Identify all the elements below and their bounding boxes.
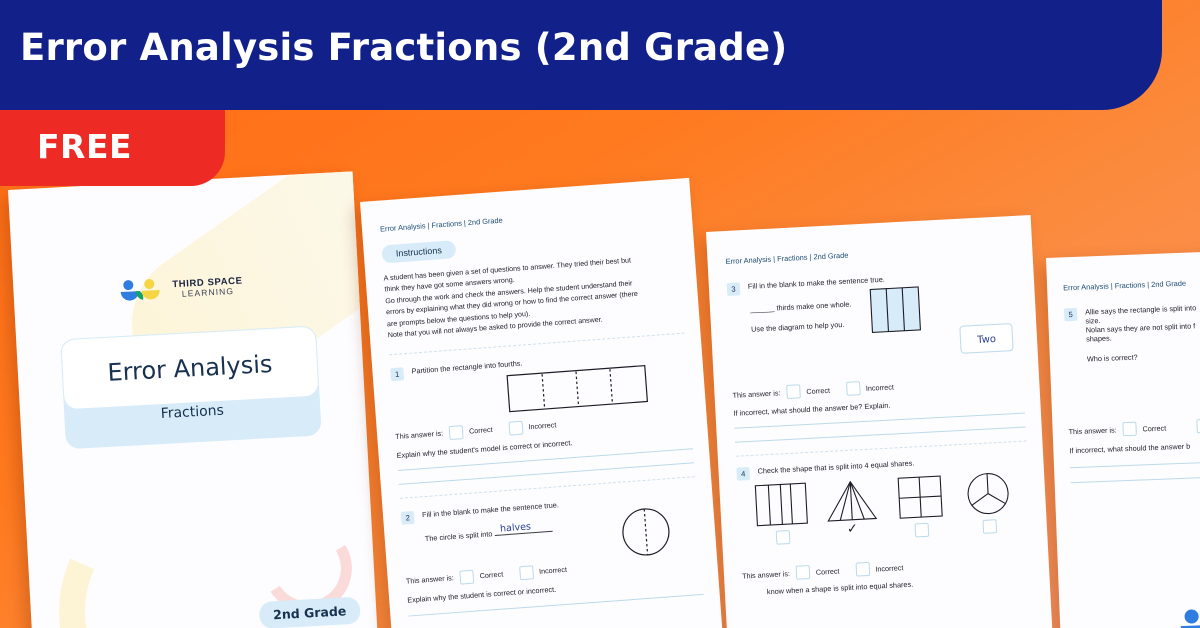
- worksheet-questions-3-4-page[interactable]: Error Analysis | Fractions | 2nd Grade 3…: [706, 215, 1054, 628]
- brand-line-2: LEARNING: [173, 286, 244, 299]
- checkbox-correct[interactable]: [796, 565, 811, 580]
- q5-question: Who is correct?: [1087, 350, 1198, 363]
- question-number: 5: [1064, 308, 1077, 321]
- checkbox-incorrect[interactable]: [519, 565, 534, 580]
- poster-canvas: THIRD SPACE LEARNING Error Analysis Frac…: [0, 0, 1200, 628]
- answer-label: This answer is:: [406, 574, 454, 586]
- square-quarters-icon: [893, 475, 947, 520]
- free-badge-label: FREE: [37, 127, 132, 166]
- cover-title-card-top: Error Analysis: [60, 326, 319, 411]
- option-correct-label: Correct: [806, 385, 830, 395]
- question-prompt: Check the shape that is split into 4 equ…: [757, 458, 914, 475]
- question-number: 1: [390, 367, 404, 381]
- third-space-learning-logo: THIRD SPACE LEARNING: [119, 273, 243, 304]
- question-number: 3: [727, 282, 741, 296]
- followup-prompt-q5: If incorrect, what should the answer b: [1069, 436, 1200, 456]
- worksheet-header-breadcrumb: Error Analysis | Fractions | 2nd Grade: [725, 242, 1016, 266]
- question-5: 5 Allie says the rectangle is split into…: [1064, 298, 1200, 364]
- answer-label: This answer is:: [732, 388, 780, 399]
- cover-grade-badge: 2nd Grade: [258, 597, 360, 628]
- writing-line[interactable]: [1070, 457, 1200, 469]
- question-number: 2: [401, 511, 415, 525]
- checkbox-correct[interactable]: [1122, 422, 1137, 437]
- checkbox-correct[interactable]: [786, 384, 801, 399]
- checkbox-incorrect[interactable]: [855, 562, 870, 577]
- q4-option-square-quarters[interactable]: [893, 475, 948, 539]
- question-number: 4: [736, 467, 750, 481]
- option-correct-label: Correct: [1142, 423, 1166, 433]
- q2-sentence-text: The circle is split into: [424, 529, 492, 543]
- page-title: Error Analysis Fractions (2nd Grade): [20, 26, 787, 69]
- q4-shape-options: ✓: [737, 470, 1031, 546]
- checkbox-shape-4[interactable]: [983, 519, 998, 534]
- tsl-smiley-icon: [1167, 606, 1200, 628]
- q4-option-triangle[interactable]: ✓: [824, 478, 879, 536]
- free-badge: FREE: [0, 110, 225, 186]
- answer-label: This answer is:: [395, 429, 443, 441]
- circle-halves-diagram: [619, 505, 673, 559]
- answer-label: This answer is:: [1068, 425, 1116, 436]
- cover-title: Error Analysis: [107, 349, 273, 386]
- rectangle-vertical-quarters-icon: [754, 482, 808, 527]
- q4-checkmark-icon: ✓: [826, 520, 879, 536]
- footer-third-space-learning-logo: THIRD SPACE LEARNING: [1167, 606, 1200, 628]
- checkbox-shape-3[interactable]: [915, 523, 930, 538]
- option-incorrect-label: Incorrect: [539, 565, 568, 576]
- checkbox-incorrect[interactable]: [846, 381, 861, 396]
- triangle-quarters-icon: [824, 478, 878, 523]
- instructions-pill: Instructions: [381, 240, 456, 263]
- q3-hint: Use the diagram to help you.: [751, 320, 845, 334]
- writing-line[interactable]: [735, 427, 1026, 443]
- checkbox-shape-1[interactable]: [776, 530, 791, 545]
- question-prompt: Partition the rectangle into fourths.: [411, 358, 523, 375]
- q4-option-rectangle-fourths[interactable]: [754, 482, 809, 546]
- q4-option-circle-thirds[interactable]: [963, 471, 1014, 534]
- instructions-body: A student has been given a set of questi…: [383, 252, 683, 342]
- option-incorrect-label: Incorrect: [866, 382, 894, 392]
- q2-student-answer: halves: [500, 521, 532, 534]
- option-correct-label: Correct: [469, 425, 493, 436]
- option-incorrect-label: Incorrect: [528, 421, 557, 432]
- option-correct-label: Correct: [479, 570, 503, 581]
- q3-student-answer-box: Two: [960, 323, 1014, 354]
- checkbox-correct[interactable]: [459, 570, 474, 585]
- writing-line[interactable]: [1071, 472, 1200, 484]
- rectangle-thirds-diagram: [869, 286, 921, 334]
- option-incorrect-label: Incorrect: [875, 563, 903, 573]
- q3-sentence: ______ thirds make one whole.: [750, 299, 852, 313]
- q3-student-answer: Two: [977, 334, 996, 346]
- circle-thirds-icon: [963, 471, 1013, 515]
- checkbox-incorrect[interactable]: [1196, 419, 1200, 434]
- cover-title-card: Error Analysis Fractions: [60, 326, 322, 450]
- option-correct-label: Correct: [816, 566, 840, 576]
- checkbox-correct[interactable]: [449, 425, 464, 440]
- tsl-wordmark: THIRD SPACE LEARNING: [172, 276, 243, 299]
- q2-sentence: The circle is split into halves: [424, 525, 552, 543]
- header-banner: Error Analysis Fractions (2nd Grade): [0, 0, 1162, 110]
- tsl-smiley-icon: [119, 278, 164, 304]
- worksheet-instructions-page[interactable]: Error Analysis | Fractions | 2nd Grade I…: [360, 178, 724, 628]
- worksheet-question-5-page[interactable]: Error Analysis | Fractions | 2nd Grade 5…: [1046, 246, 1200, 628]
- worksheet-cover-page[interactable]: THIRD SPACE LEARNING Error Analysis Frac…: [8, 171, 378, 628]
- answer-row-q5: This answer is: Correct: [1068, 414, 1200, 439]
- checkbox-incorrect[interactable]: [508, 421, 523, 436]
- worksheet-header-breadcrumb: Error Analysis | Fractions | 2nd Grade: [1063, 273, 1200, 293]
- answer-label: This answer is:: [742, 569, 790, 580]
